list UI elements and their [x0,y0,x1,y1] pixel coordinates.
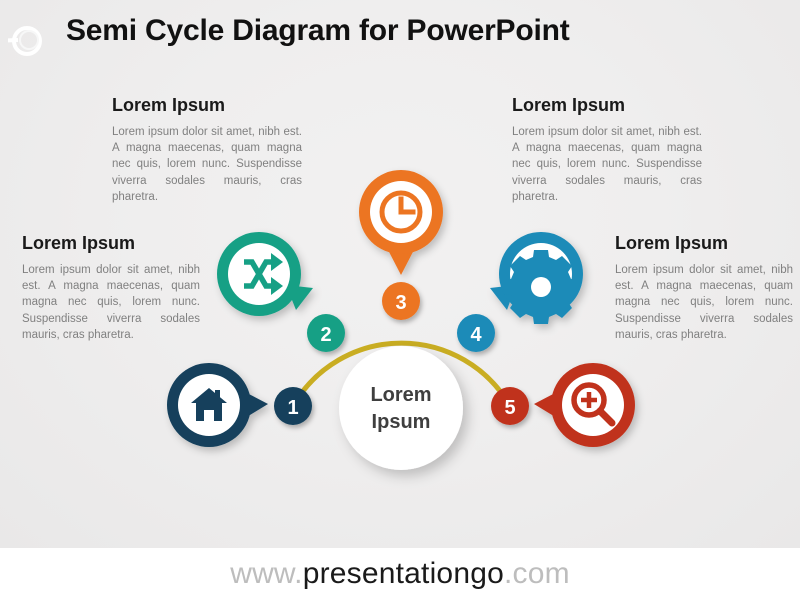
slide: Semi Cycle Diagram for PowerPoint Lorem … [0,0,800,600]
step-number-node-4[interactable]: 4 [457,314,495,352]
center-label-line2: Ipsum [372,411,431,433]
gear-icon [504,250,578,324]
step-icon-bubble-2[interactable] [217,232,313,316]
step-number-node-2[interactable]: 2 [307,314,345,352]
step-icon-bubble-5[interactable] [534,363,635,447]
step-number-label-5: 5 [504,397,515,419]
semi-cycle-diagram: Lorem Ipsum [0,0,800,548]
step-number-label-4: 4 [470,324,482,346]
step-number-label-1: 1 [287,397,298,419]
center-label-line1: Lorem [370,384,431,406]
step-icon-bubble-1[interactable] [167,363,268,447]
footer-website[interactable]: www.presentationgo.com [230,557,570,591]
center-node[interactable]: Lorem Ipsum [339,346,463,470]
footer: www.presentationgo.com [0,548,800,600]
step-number-node-1[interactable]: 1 [274,387,312,425]
step-number-node-3[interactable]: 3 [382,282,420,320]
footer-name: presentationgo [303,557,504,590]
step-number-node-5[interactable]: 5 [491,387,529,425]
footer-prefix: www. [230,557,302,590]
step-number-label-3: 3 [395,292,406,314]
step-icon-bubble-3[interactable] [359,170,443,275]
footer-suffix: .com [504,557,570,590]
step-number-label-2: 2 [320,324,331,346]
step-icon-bubble-4[interactable] [490,232,583,324]
